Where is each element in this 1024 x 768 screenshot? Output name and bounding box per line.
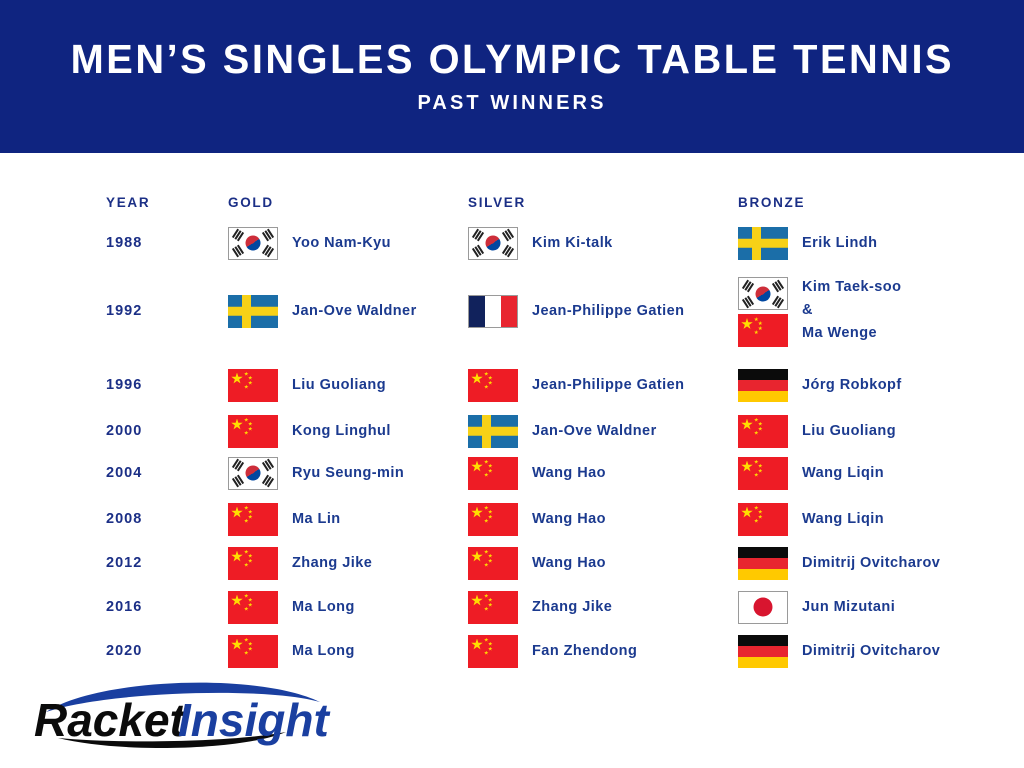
flag-china-icon: [468, 547, 518, 580]
flag-sweden-icon: [228, 295, 278, 328]
star-large: [231, 373, 243, 385]
band-red: [501, 296, 517, 327]
star-large: [231, 419, 243, 431]
winner-name: Ma Long: [292, 599, 355, 615]
star-small-1: [754, 460, 759, 465]
taegeuk-symbol: [753, 283, 774, 304]
winner-name: Kong Linghul: [292, 423, 391, 439]
winner-name: Jan-Ove Waldner: [292, 303, 417, 319]
star-small-4: [484, 473, 489, 478]
trigram-tl: [472, 229, 484, 242]
winner-name: Jórg Robkopf: [802, 377, 902, 393]
cell-year: 2008: [106, 501, 142, 537]
cell-year: 2016: [106, 589, 142, 625]
cell-gold: Ma Lin: [228, 501, 341, 537]
star-small-2: [758, 321, 763, 326]
star-small-1: [244, 372, 249, 377]
star-small-4: [754, 519, 759, 524]
cell-gold: Jan-Ove Waldner: [228, 293, 417, 329]
flag-china-icon: [468, 591, 518, 624]
band-black: [738, 369, 788, 380]
trigram-br: [502, 245, 514, 258]
star-small-3: [758, 326, 763, 331]
column-header-bronze: BRONZE: [738, 195, 805, 210]
flag-germany-icon: [738, 369, 788, 402]
winner-name: Fan Zhendong: [532, 643, 637, 659]
star-small-1: [244, 550, 249, 555]
band-red: [738, 558, 788, 569]
cell-bronze: Jórg Robkopf: [738, 367, 902, 403]
star-large: [741, 318, 753, 330]
flag-china-icon: [228, 547, 278, 580]
winner-name: Wang Hao: [532, 465, 606, 481]
nordic-cross-vertical: [242, 295, 251, 328]
table-row: 1988Yoo Nam-KyuKim Ki-talkErik Lindh: [0, 225, 1024, 261]
flag-china-icon: [468, 503, 518, 536]
cell-bronze: Wang Liqin: [738, 501, 884, 537]
star-large: [471, 373, 483, 385]
star-small-3: [758, 469, 763, 474]
star-small-1: [484, 506, 489, 511]
star-small-3: [488, 559, 493, 564]
logo-word-insight: Insight: [178, 694, 330, 746]
star-small-4: [484, 607, 489, 612]
cell-gold: Yoo Nam-Kyu: [228, 225, 391, 261]
table-row: 2008Ma LinWang HaoWang Liqin: [0, 501, 1024, 537]
trigram-tl: [232, 459, 244, 472]
winner-name: Ma Wenge: [802, 323, 901, 344]
winner-name: Kim Taek-soo: [802, 277, 901, 298]
star-small-1: [484, 460, 489, 465]
cell-bronze: Kim Taek-soo&Ma Wenge: [738, 277, 901, 347]
cell-bronze: Jun Mizutani: [738, 589, 895, 625]
winner-name: Yoo Nam-Kyu: [292, 235, 391, 251]
cell-gold: Ma Long: [228, 633, 355, 669]
star-small-4: [484, 519, 489, 524]
table-row: 2020Ma LongFan ZhendongDimitrij Ovitchar…: [0, 633, 1024, 669]
star-small-4: [484, 563, 489, 568]
star-small-2: [758, 464, 763, 469]
winner-name: Zhang Jike: [532, 599, 612, 615]
nordic-cross-horizontal: [228, 307, 278, 316]
winner-name: Dimitrij Ovitcharov: [802, 643, 940, 659]
star-small-4: [484, 385, 489, 390]
star-large: [741, 461, 753, 473]
band-gold: [738, 391, 788, 402]
cell-silver: Wang Hao: [468, 455, 606, 491]
cell-silver: Wang Hao: [468, 545, 606, 581]
star-large: [471, 551, 483, 563]
winner-name: Jun Mizutani: [802, 599, 895, 615]
flag-germany-icon: [738, 635, 788, 668]
flag-japan-icon: [738, 591, 788, 624]
nordic-cross-horizontal: [468, 427, 518, 436]
column-header-silver: SILVER: [468, 195, 526, 210]
taegeuk-symbol: [243, 463, 264, 484]
star-large: [231, 551, 243, 563]
winner-name: Jean-Philippe Gatien: [532, 377, 684, 393]
winner-name: Jan-Ove Waldner: [532, 423, 657, 439]
band-red: [738, 380, 788, 391]
cell-bronze: Dimitrij Ovitcharov: [738, 545, 940, 581]
star-small-4: [754, 330, 759, 335]
trigram-br: [262, 475, 274, 488]
table-row: 2000Kong LinghulJan-Ove WaldnerLiu Guoli…: [0, 413, 1024, 449]
star-small-4: [244, 563, 249, 568]
cell-silver: Jean-Philippe Gatien: [468, 367, 684, 403]
table-row: 1996Liu GuoliangJean-Philippe GatienJórg…: [0, 367, 1024, 403]
flag-south-korea-icon: [738, 277, 788, 310]
logo-artwork: Racket Insight: [28, 676, 358, 748]
star-small-4: [244, 651, 249, 656]
flag-stack: [738, 277, 788, 347]
star-small-1: [244, 506, 249, 511]
page-title: MEN’S SINGLES OLYMPIC TABLE TENNIS: [70, 38, 953, 81]
flag-china-icon: [228, 635, 278, 668]
star-small-3: [248, 515, 253, 520]
star-large: [231, 507, 243, 519]
star-small-1: [484, 594, 489, 599]
star-small-2: [488, 510, 493, 515]
cell-silver: Zhang Jike: [468, 589, 612, 625]
winner-name: &: [802, 300, 901, 321]
racket-insight-logo[interactable]: Racket Insight: [28, 676, 358, 748]
star-small-2: [248, 598, 253, 603]
star-small-2: [248, 642, 253, 647]
winner-name: Wang Hao: [532, 555, 606, 571]
star-small-4: [484, 651, 489, 656]
star-large: [471, 595, 483, 607]
hinomaru-disc: [754, 598, 773, 617]
star-small-3: [488, 647, 493, 652]
winner-name: Liu Guoliang: [292, 377, 386, 393]
star-small-2: [488, 598, 493, 603]
trigram-tl: [232, 229, 244, 242]
flag-china-icon: [738, 457, 788, 490]
cell-silver: Jan-Ove Waldner: [468, 413, 657, 449]
cell-silver: Fan Zhendong: [468, 633, 637, 669]
star-small-1: [484, 372, 489, 377]
flag-china-icon: [468, 457, 518, 490]
trigram-br: [772, 295, 784, 308]
star-small-4: [244, 431, 249, 436]
flag-china-icon: [468, 635, 518, 668]
star-large: [471, 507, 483, 519]
winner-name: Liu Guoliang: [802, 423, 896, 439]
star-small-2: [248, 510, 253, 515]
winner-name: Zhang Jike: [292, 555, 372, 571]
star-small-4: [754, 473, 759, 478]
flag-china-icon: [228, 591, 278, 624]
header-banner: MEN’S SINGLES OLYMPIC TABLE TENNIS PAST …: [0, 0, 1024, 153]
star-small-2: [488, 554, 493, 559]
star-large: [741, 419, 753, 431]
star-small-1: [484, 638, 489, 643]
star-small-2: [488, 642, 493, 647]
cell-year: 1988: [106, 225, 142, 261]
star-small-2: [248, 422, 253, 427]
cell-year: 2020: [106, 633, 142, 669]
star-large: [471, 639, 483, 651]
trigram-tr: [772, 279, 784, 292]
trigram-tl: [742, 279, 754, 292]
winner-name: Ryu Seung-min: [292, 465, 404, 481]
nordic-cross-vertical: [482, 415, 491, 448]
winner-name: Kim Ki-talk: [532, 235, 613, 251]
winner-name: Wang Liqin: [802, 465, 884, 481]
star-small-1: [754, 317, 759, 322]
cell-silver: Jean-Philippe Gatien: [468, 293, 684, 329]
star-small-4: [754, 431, 759, 436]
star-small-2: [758, 510, 763, 515]
trigram-tr: [262, 229, 274, 242]
trigram-tr: [502, 229, 514, 242]
star-small-1: [754, 418, 759, 423]
cell-year: 1996: [106, 367, 142, 403]
flag-south-korea-icon: [228, 457, 278, 490]
winner-name: Wang Hao: [532, 511, 606, 527]
cell-year: 2012: [106, 545, 142, 581]
winner-name: Wang Liqin: [802, 511, 884, 527]
star-small-1: [244, 418, 249, 423]
table-row: 2012Zhang JikeWang HaoDimitrij Ovitcharo…: [0, 545, 1024, 581]
band-blue: [469, 296, 485, 327]
nordic-cross-horizontal: [738, 239, 788, 248]
star-small-3: [248, 381, 253, 386]
flag-germany-icon: [738, 547, 788, 580]
column-header-year: YEAR: [106, 195, 150, 210]
flag-south-korea-icon: [228, 227, 278, 260]
star-small-4: [244, 607, 249, 612]
star-small-2: [488, 464, 493, 469]
star-small-3: [488, 515, 493, 520]
winner-name: Ma Lin: [292, 511, 341, 527]
flag-south-korea-icon: [468, 227, 518, 260]
star-small-3: [248, 647, 253, 652]
star-large: [231, 595, 243, 607]
cell-bronze: Liu Guoliang: [738, 413, 896, 449]
trigram-bl: [232, 475, 244, 488]
cell-gold: Ryu Seung-min: [228, 455, 404, 491]
trigram-bl: [472, 245, 484, 258]
taegeuk-symbol: [483, 233, 504, 254]
flag-sweden-icon: [738, 227, 788, 260]
star-small-2: [248, 376, 253, 381]
cell-bronze: Wang Liqin: [738, 455, 884, 491]
logo-word-racket: Racket: [34, 694, 187, 746]
band-gold: [738, 657, 788, 668]
cell-gold: Ma Long: [228, 589, 355, 625]
star-small-3: [758, 427, 763, 432]
cell-year: 2004: [106, 455, 142, 491]
cell-year: 2000: [106, 413, 142, 449]
table-row: 1992Jan-Ove WaldnerJean-Philippe GatienK…: [0, 293, 1024, 329]
band-gold: [738, 569, 788, 580]
cell-year: 1992: [106, 293, 142, 329]
taegeuk-symbol: [243, 233, 264, 254]
flag-france-icon: [468, 295, 518, 328]
trigram-tr: [262, 459, 274, 472]
nordic-cross-vertical: [752, 227, 761, 260]
table-row: 2004Ryu Seung-minWang HaoWang Liqin: [0, 455, 1024, 491]
cell-gold: Zhang Jike: [228, 545, 372, 581]
page-subtitle: PAST WINNERS: [417, 92, 606, 115]
trigram-bl: [742, 295, 754, 308]
column-header-gold: GOLD: [228, 195, 274, 210]
star-small-3: [758, 515, 763, 520]
winner-name: Dimitrij Ovitcharov: [802, 555, 940, 571]
star-small-1: [484, 550, 489, 555]
table-row: 2016Ma LongZhang JikeJun Mizutani: [0, 589, 1024, 625]
cell-silver: Kim Ki-talk: [468, 225, 613, 261]
flag-china-icon: [468, 369, 518, 402]
flag-sweden-icon: [468, 415, 518, 448]
star-small-2: [488, 376, 493, 381]
star-small-1: [754, 506, 759, 511]
star-small-3: [488, 603, 493, 608]
winner-name: Erik Lindh: [802, 235, 877, 251]
name-stack: Kim Taek-soo&Ma Wenge: [802, 277, 901, 344]
flag-china-icon: [228, 415, 278, 448]
band-white: [485, 296, 501, 327]
star-small-3: [248, 427, 253, 432]
flag-china-icon: [738, 415, 788, 448]
star-small-3: [488, 469, 493, 474]
star-small-2: [758, 422, 763, 427]
winner-name: Ma Long: [292, 643, 355, 659]
flag-china-icon: [228, 503, 278, 536]
star-small-4: [244, 385, 249, 390]
cell-gold: Liu Guoliang: [228, 367, 386, 403]
star-small-3: [248, 559, 253, 564]
star-small-1: [244, 594, 249, 599]
trigram-br: [262, 245, 274, 258]
trigram-bl: [232, 245, 244, 258]
star-small-3: [248, 603, 253, 608]
flag-china-icon: [738, 314, 788, 347]
flag-china-icon: [228, 369, 278, 402]
cell-bronze: Erik Lindh: [738, 225, 877, 261]
band-red: [738, 646, 788, 657]
flag-china-icon: [738, 503, 788, 536]
star-large: [231, 639, 243, 651]
band-black: [738, 547, 788, 558]
star-small-3: [488, 381, 493, 386]
winner-name: Jean-Philippe Gatien: [532, 303, 684, 319]
cell-gold: Kong Linghul: [228, 413, 391, 449]
star-large: [471, 461, 483, 473]
cell-silver: Wang Hao: [468, 501, 606, 537]
band-black: [738, 635, 788, 646]
star-small-4: [244, 519, 249, 524]
star-large: [741, 507, 753, 519]
star-small-1: [244, 638, 249, 643]
cell-bronze: Dimitrij Ovitcharov: [738, 633, 940, 669]
star-small-2: [248, 554, 253, 559]
